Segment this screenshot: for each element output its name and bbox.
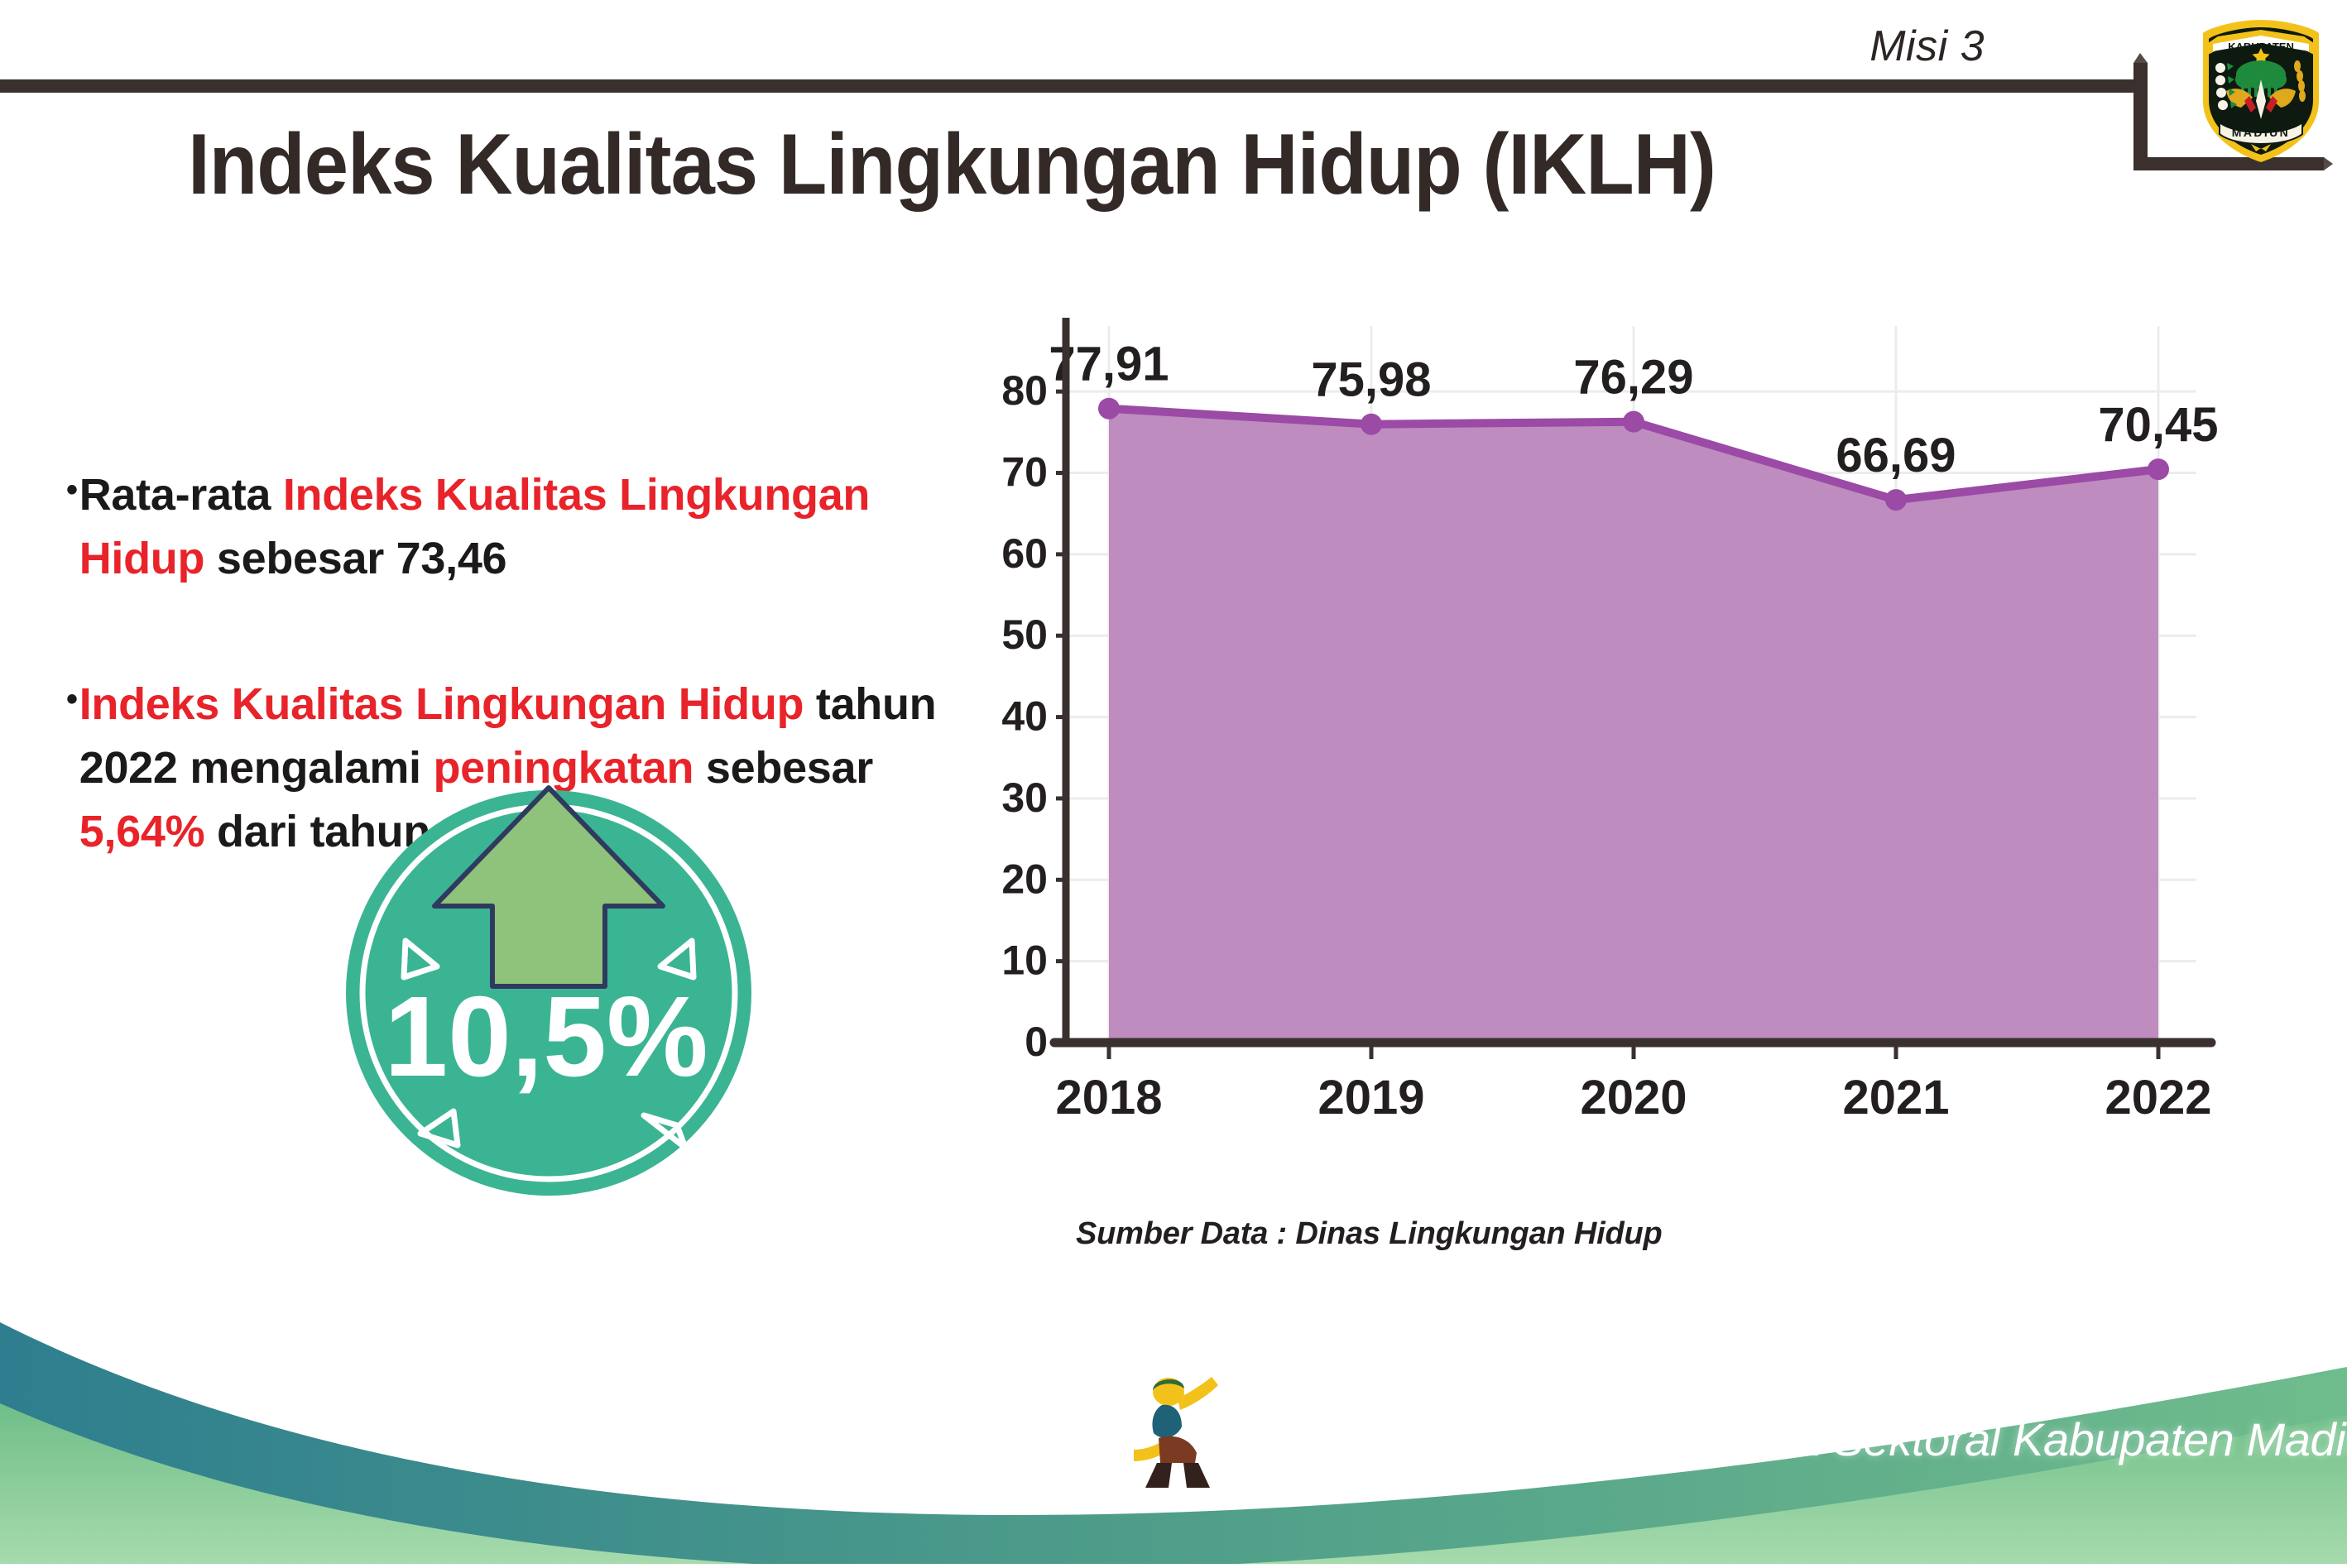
chart-canvas: 01020304050607080 20182019202020212022 7… [977,281,2268,1208]
chart-area-fill [1109,409,2158,1043]
chart-x-axis-labels: 20182019202020212022 [1055,1071,2211,1124]
bullet-text: Rata-rata Indeks Kualitas Lingkungan Hid… [79,463,985,590]
y-tick-label: 40 [1001,693,1048,740]
page-footer: Media Infografis Data Statistik Sektoral… [0,1291,2347,1564]
mission-label: Misi 3 [1869,22,1985,71]
badge-value-label: 10,5% [384,973,708,1100]
footer-caption: Media Infografis Data Statistik Sektoral… [1215,1412,2347,1466]
page-title: Indeks Kualitas Lingkungan Hidup (IKLH) [76,116,1827,214]
y-tick-label: 30 [1001,774,1048,821]
chart-value-label: 70,45 [2098,398,2218,452]
chart-value-label: 75,98 [1311,353,1431,407]
chart-source-note: Sumber Data : Dinas Lingkungan Hidup [1076,1216,1663,1252]
bullet-marker-icon: • [66,673,78,726]
bullet-segment: Rata-rata [79,470,283,520]
x-tick-label: 2019 [1317,1071,1424,1124]
header-divider-rule [0,79,2143,93]
emblem-bottom-banner-text: MADIUN [2232,126,2290,139]
chart-y-axis-labels: 01020304050607080 [1001,367,1048,1065]
kabupaten-madiun-emblem-icon: KABUPATEN MAD [2193,15,2329,165]
x-tick-label: 2022 [2105,1071,2211,1124]
x-tick-label: 2021 [1842,1071,1949,1124]
chart-value-label: 66,69 [1836,429,1956,482]
x-tick-label: 2020 [1580,1071,1687,1124]
bullet-segment-highlight: 5,64% [79,807,205,856]
x-tick-label: 2018 [1055,1071,1162,1124]
y-tick-label: 50 [1001,611,1048,658]
bracket-vertical-arm [2133,63,2148,157]
bullet-item: • Rata-rata Indeks Kualitas Lingkungan H… [66,463,985,590]
y-tick-label: 0 [1025,1019,1048,1065]
bullet-segment: sebesar 73,46 [204,534,506,583]
y-tick-label: 10 [1001,937,1048,984]
increase-badge-graphic: 10,5% [329,745,776,1208]
y-tick-label: 60 [1001,530,1048,577]
bullet-marker-icon: • [66,463,78,516]
bullet-segment-highlight: Indeks Kualitas Lingkungan Hidup [79,679,804,729]
y-tick-label: 70 [1001,449,1048,496]
y-tick-label: 20 [1001,856,1048,902]
y-tick-label: 80 [1001,367,1048,414]
pencak-silat-figure-icon [1132,1370,1221,1488]
increase-badge: 10,5% [329,745,776,1208]
chart-value-label: 76,29 [1573,351,1693,405]
iklh-area-chart: 01020304050607080 20182019202020212022 7… [977,281,2268,1208]
